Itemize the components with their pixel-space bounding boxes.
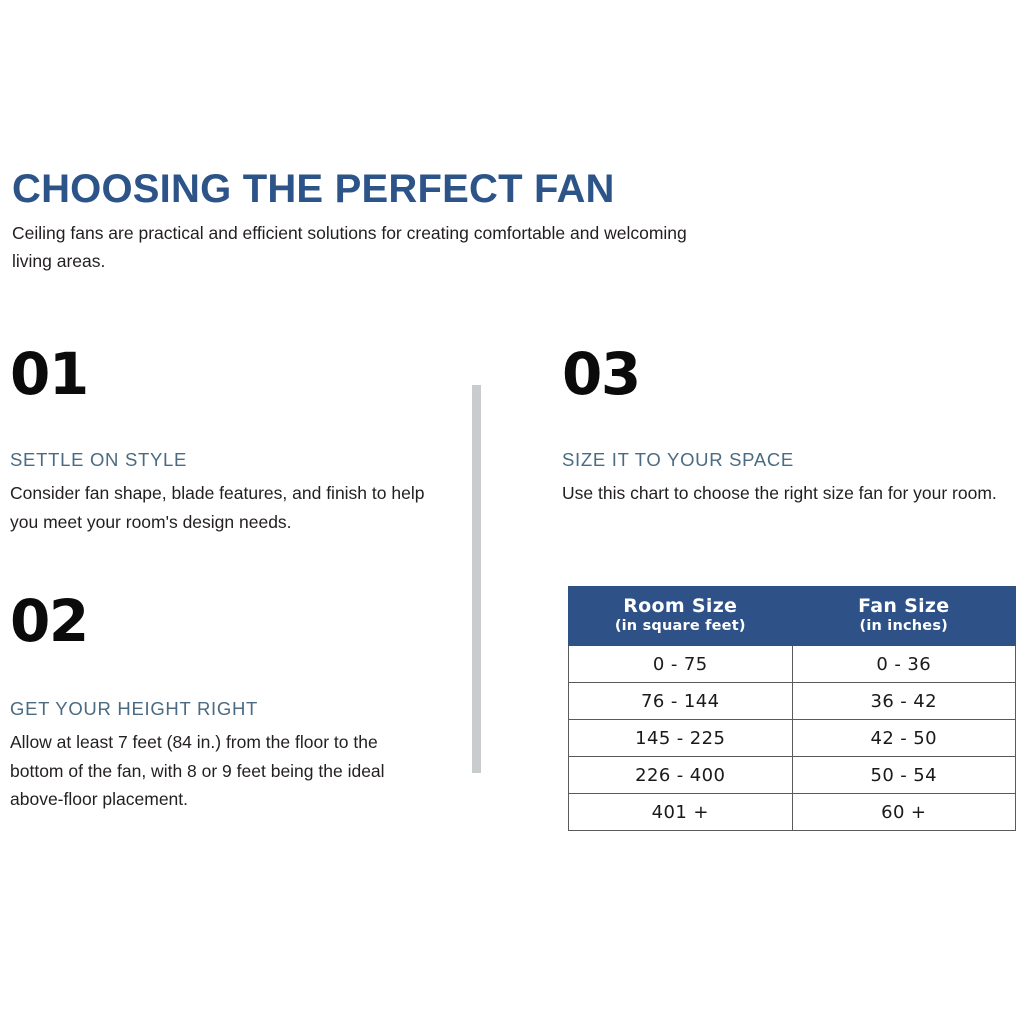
column-header-room-size-sub: (in square feet) — [569, 618, 792, 635]
cell-room-size: 0 - 75 — [569, 646, 793, 683]
table-row: 76 - 144 36 - 42 — [569, 683, 1016, 720]
intro-paragraph: Ceiling fans are practical and efficient… — [12, 219, 712, 275]
table-row: 226 - 400 50 - 54 — [569, 757, 1016, 794]
step-03-number: 03 — [562, 345, 1022, 403]
fan-size-table: Room Size (in square feet) Fan Size (in … — [568, 586, 1016, 831]
table-header-row: Room Size (in square feet) Fan Size (in … — [569, 587, 1016, 646]
table-row: 401 + 60 + — [569, 794, 1016, 831]
table-header: Room Size (in square feet) Fan Size (in … — [569, 587, 1016, 646]
column-header-fan-size: Fan Size (in inches) — [792, 587, 1016, 646]
column-divider — [472, 385, 481, 773]
cell-room-size: 145 - 225 — [569, 720, 793, 757]
step-02-number: 02 — [10, 592, 430, 650]
column-header-fan-size-sub: (in inches) — [793, 618, 1016, 635]
cell-fan-size: 42 - 50 — [792, 720, 1016, 757]
step-01-heading: SETTLE ON STYLE — [10, 449, 430, 471]
cell-fan-size: 0 - 36 — [792, 646, 1016, 683]
step-02-body: Allow at least 7 feet (84 in.) from the … — [10, 728, 430, 814]
cell-fan-size: 60 + — [792, 794, 1016, 831]
left-column: 01 SETTLE ON STYLE Consider fan shape, b… — [10, 345, 430, 814]
step-02-heading: GET YOUR HEIGHT RIGHT — [10, 698, 430, 720]
step-01-body: Consider fan shape, blade features, and … — [10, 479, 430, 536]
cell-room-size: 76 - 144 — [569, 683, 793, 720]
table-body: 0 - 75 0 - 36 76 - 144 36 - 42 145 - 225… — [569, 646, 1016, 831]
column-header-room-size-main: Room Size — [569, 596, 792, 618]
fan-size-table-wrapper: Room Size (in square feet) Fan Size (in … — [568, 586, 1016, 831]
cell-fan-size: 50 - 54 — [792, 757, 1016, 794]
cell-room-size: 401 + — [569, 794, 793, 831]
column-header-room-size: Room Size (in square feet) — [569, 587, 793, 646]
column-header-fan-size-main: Fan Size — [793, 596, 1016, 618]
step-01: 01 SETTLE ON STYLE Consider fan shape, b… — [10, 345, 430, 536]
right-column: 03 SIZE IT TO YOUR SPACE Use this chart … — [562, 345, 1022, 508]
step-01-number: 01 — [10, 345, 430, 403]
header-block: CHOOSING THE PERFECT FAN Ceiling fans ar… — [12, 168, 732, 275]
step-02: 02 GET YOUR HEIGHT RIGHT Allow at least … — [10, 592, 430, 814]
table-row: 0 - 75 0 - 36 — [569, 646, 1016, 683]
step-03: 03 SIZE IT TO YOUR SPACE Use this chart … — [562, 345, 1022, 508]
page-title: CHOOSING THE PERFECT FAN — [12, 168, 732, 211]
step-03-body: Use this chart to choose the right size … — [562, 479, 1022, 508]
infographic-page: CHOOSING THE PERFECT FAN Ceiling fans ar… — [0, 0, 1024, 1024]
cell-fan-size: 36 - 42 — [792, 683, 1016, 720]
step-03-heading: SIZE IT TO YOUR SPACE — [562, 449, 1022, 471]
table-row: 145 - 225 42 - 50 — [569, 720, 1016, 757]
cell-room-size: 226 - 400 — [569, 757, 793, 794]
